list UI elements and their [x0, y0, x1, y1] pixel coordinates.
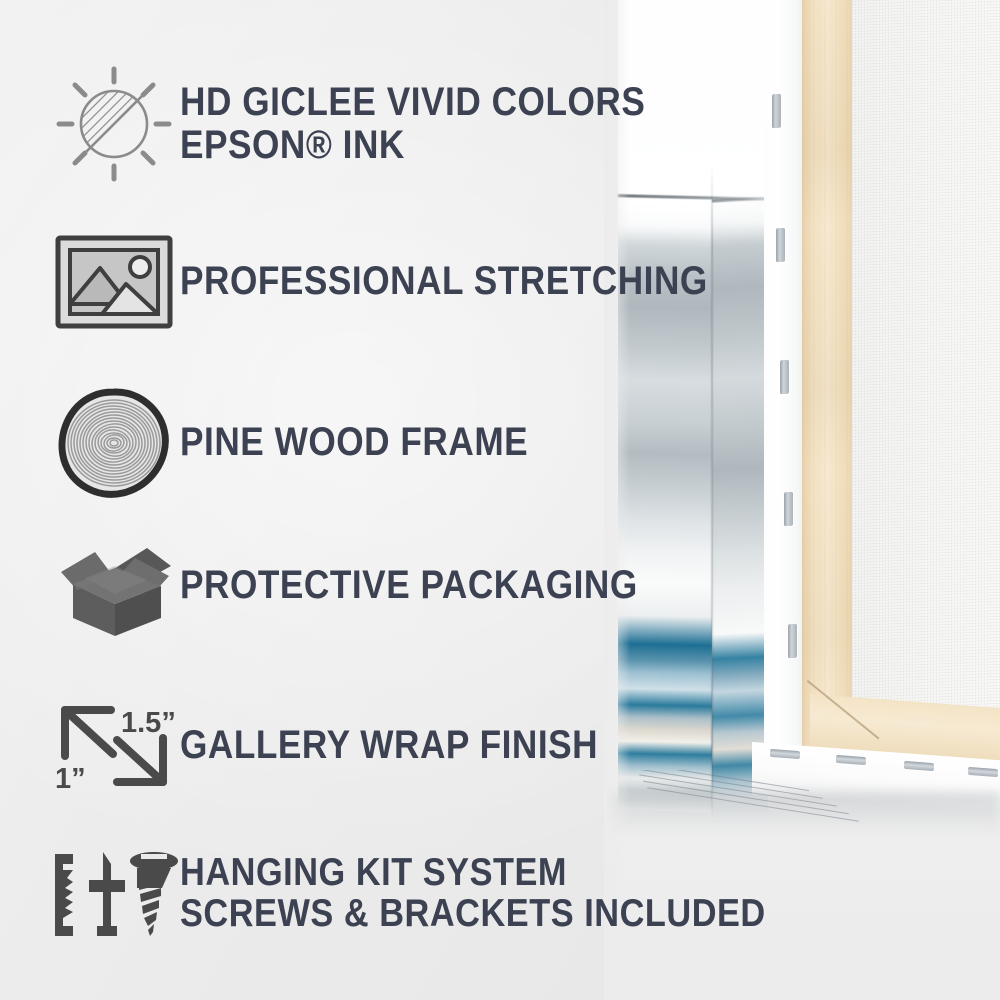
- feature-item-hd-giclee: HD GICLEE VIVID COLORS EPSON® INK: [48, 60, 709, 188]
- tree-rings-icon: [48, 388, 180, 498]
- feature-line: PROTECTIVE PACKAGING: [180, 564, 638, 607]
- feature-line: SCREWS & BRACKETS INCLUDED: [180, 894, 766, 935]
- artwork-corner-crease: [711, 0, 713, 818]
- feature-item-professional-stretching: PROFESSIONAL STRETCHING: [48, 232, 780, 332]
- canvas-backing-texture: [852, 0, 1000, 716]
- feature-line: GALLERY WRAP FINISH: [180, 724, 598, 767]
- feature-line: HD GICLEE VIVID COLORS: [180, 81, 645, 124]
- feature-label-professional-stretching: PROFESSIONAL STRETCHING: [180, 260, 708, 303]
- feature-list: HD GICLEE VIVID COLORS EPSON® INK PROFES…: [0, 0, 640, 1000]
- feature-label-hanging-kit: HANGING KIT SYSTEM SCREWS & BRACKETS INC…: [180, 853, 766, 934]
- feature-line: PINE WOOD FRAME: [180, 421, 528, 464]
- feature-item-hanging-kit: HANGING KIT SYSTEM SCREWS & BRACKETS INC…: [48, 848, 846, 940]
- dimension-width-label: 1”: [55, 763, 86, 794]
- open-box-icon: [48, 532, 180, 640]
- staple: [772, 94, 781, 128]
- feature-label-gallery-wrap-finish: GALLERY WRAP FINISH: [180, 724, 598, 767]
- feature-label-hd-giclee: HD GICLEE VIVID COLORS EPSON® INK: [180, 81, 645, 167]
- dimension-depth-label: 1.5”: [121, 707, 176, 739]
- feature-item-protective-packaging: PROTECTIVE PACKAGING: [48, 532, 700, 640]
- product-feature-infographic: HD GICLEE VIVID COLORS EPSON® INK PROFES…: [0, 0, 1000, 1000]
- feature-item-pine-wood-frame: PINE WOOD FRAME: [48, 388, 576, 498]
- feature-label-pine-wood-frame: PINE WOOD FRAME: [180, 421, 528, 464]
- feature-line: EPSON® INK: [180, 124, 645, 167]
- staple: [780, 360, 789, 394]
- screw-glyph: [130, 852, 178, 936]
- staple: [784, 492, 793, 526]
- hanging-hardware-icon: [48, 848, 180, 940]
- sun-icon: [48, 60, 180, 188]
- bracket-glyph: [55, 854, 73, 936]
- dimension-arrows-icon: 1.5” 1”: [48, 698, 180, 794]
- feature-line: HANGING KIT SYSTEM: [180, 853, 766, 894]
- feature-line: PROFESSIONAL STRETCHING: [180, 260, 708, 303]
- nail-glyph: [89, 852, 125, 936]
- artwork-wrapped-side: [712, 0, 768, 824]
- feature-item-gallery-wrap-finish: 1.5” 1” GALLERY WRAP FINISH: [48, 698, 655, 794]
- framed-picture-icon: [48, 232, 180, 332]
- staple: [788, 624, 797, 658]
- feature-label-protective-packaging: PROTECTIVE PACKAGING: [180, 564, 638, 607]
